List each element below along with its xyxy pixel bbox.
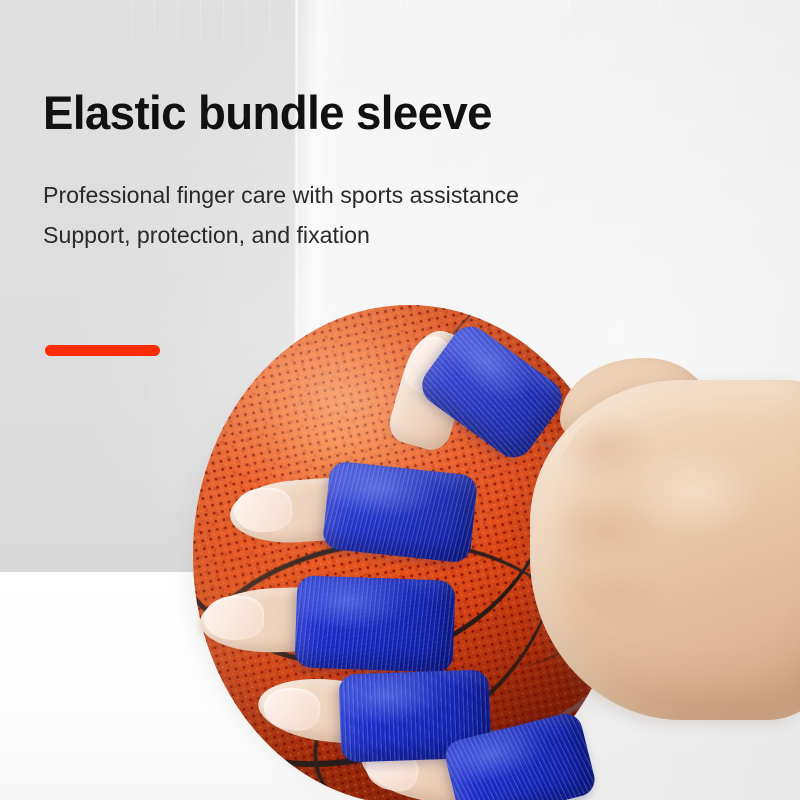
subtitle-line-2: Support, protection, and fixation: [43, 224, 370, 248]
subtitle-line-1: Professional finger care with sports ass…: [43, 184, 519, 208]
page-title: Elastic bundle sleeve: [43, 88, 492, 138]
accent-bar: [45, 345, 160, 356]
product-banner: Elastic bundle sleeve Professional finge…: [0, 0, 800, 800]
